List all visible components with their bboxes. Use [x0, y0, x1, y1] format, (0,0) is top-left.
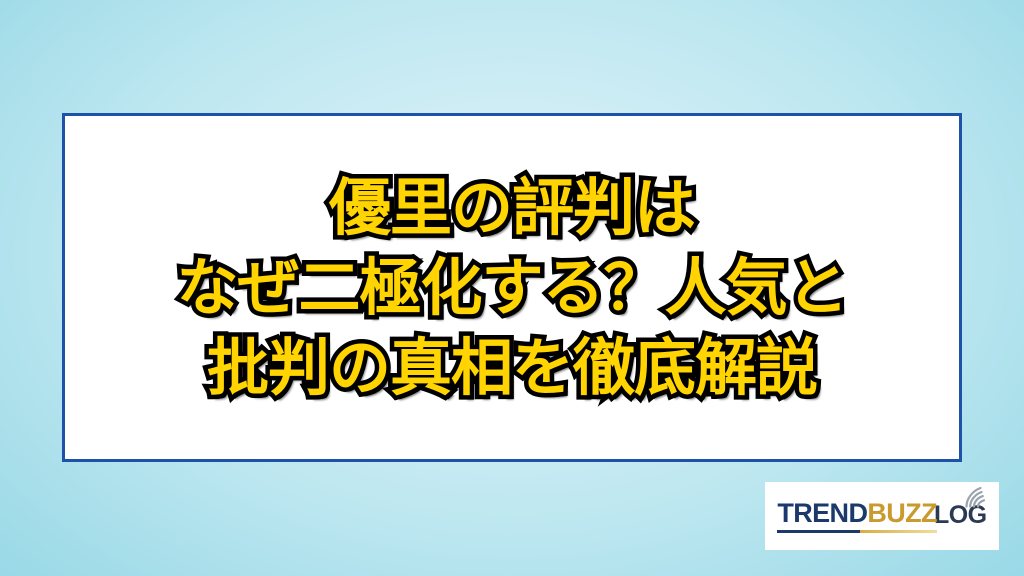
brand-wordmark: TRENDBUZZ [777, 500, 937, 533]
brand-text-trend: TREND [777, 498, 867, 528]
brand-wordmark-text: TRENDBUZZ [777, 498, 937, 528]
headline-text-block: 優里の評判は なぜ二極化する？人気と 批判の真相を徹底解説 [65, 168, 959, 408]
headline-line-2: なぜ二極化する？人気と [65, 248, 959, 328]
headline-line-3: 批判の真相を徹底解説 [65, 328, 959, 408]
headline-line-1: 優里の評判は [65, 168, 959, 248]
brand-logo-inner: TRENDBUZZ LOG [773, 500, 990, 533]
thumbnail-canvas: 優里の評判は なぜ二極化する？人気と 批判の真相を徹底解説 TRENDBUZZ … [0, 0, 1024, 576]
wifi-signal-icon [963, 486, 989, 508]
headline-card: 優里の評判は なぜ二極化する？人気と 批判の真相を徹底解説 [62, 113, 962, 462]
brand-underline-bar [777, 530, 937, 533]
brand-text-buzz: BUZZ [867, 498, 937, 528]
brand-logo[interactable]: TRENDBUZZ LOG [765, 482, 999, 550]
